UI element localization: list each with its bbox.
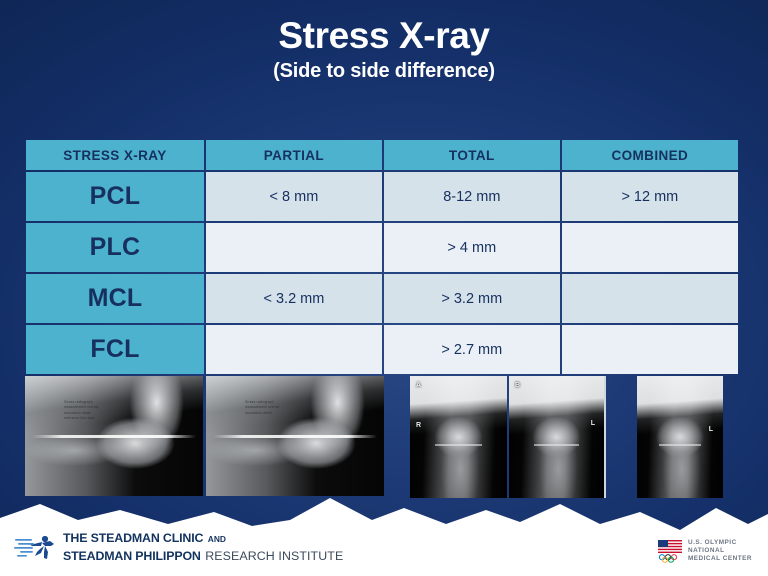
row-label-fcl: FCL (26, 325, 204, 374)
cell-mcl-partial: < 3.2 mm (206, 274, 382, 323)
table-header-row: STRESS X-RAY PARTIAL TOTAL COMBINED (26, 140, 738, 170)
table-row: PLC > 4 mm (26, 223, 738, 272)
row-label-plc: PLC (26, 223, 204, 272)
cell-plc-combined (562, 223, 738, 272)
cell-mcl-combined (562, 274, 738, 323)
row-label-pcl: PCL (26, 172, 204, 221)
table-row: PCL < 8 mm 8-12 mm > 12 mm (26, 172, 738, 221)
page-title: Stress X-ray (0, 16, 768, 55)
cell-plc-total: > 4 mm (384, 223, 560, 272)
column-header-total: TOTAL (384, 140, 560, 170)
clinic-name-line1: THE STEADMAN CLINIC (63, 531, 203, 545)
clinic-name-and: AND (208, 534, 226, 544)
xray-lateral-stress-right: Stress radiograph measurement overlay an… (206, 376, 384, 496)
clinic-name-line2: STEADMAN PHILIPPON (63, 549, 201, 563)
clinic-name-institute: RESEARCH INSTITUTE (205, 549, 343, 563)
cell-fcl-total: > 2.7 mm (384, 325, 560, 374)
knee-radiograph-ap (637, 376, 723, 498)
xray-corner-marker: A (416, 382, 421, 389)
xray-ap-stress-right-knee: A R (410, 376, 507, 498)
steadman-logo-text: THE STEADMAN CLINIC AND STEADMAN PHILIPP… (63, 529, 343, 565)
column-header-partial: PARTIAL (206, 140, 382, 170)
xray-side-marker-l: L (591, 420, 595, 427)
cell-pcl-total: 8-12 mm (384, 172, 560, 221)
stress-xray-table: STRESS X-RAY PARTIAL TOTAL COMBINED PCL … (24, 138, 740, 376)
usoc-logo-text: U.S. OLYMPIC NATIONAL MEDICAL CENTER (688, 539, 752, 563)
cell-pcl-partial: < 8 mm (206, 172, 382, 221)
table-row: MCL < 3.2 mm > 3.2 mm (26, 274, 738, 323)
cell-plc-partial (206, 223, 382, 272)
column-header-stress-xray: STRESS X-RAY (26, 140, 204, 170)
xray-ap-stress-single: L (637, 376, 723, 498)
olympic-rings-icon (658, 554, 682, 563)
runner-icon (14, 534, 58, 560)
slide: Stress X-ray (Side to side difference) S… (0, 0, 768, 576)
knee-radiograph-ap (509, 376, 604, 498)
xray-ap-stress-left-knee: B L (509, 376, 606, 498)
table-row: FCL > 2.7 mm (26, 325, 738, 374)
column-header-combined: COMBINED (562, 140, 738, 170)
usoc-line2: NATIONAL (688, 547, 752, 555)
usoc-marks (658, 540, 682, 563)
usoc-logo: U.S. OLYMPIC NATIONAL MEDICAL CENTER (658, 539, 752, 563)
cell-mcl-total: > 3.2 mm (384, 274, 560, 323)
title-block: Stress X-ray (Side to side difference) (0, 16, 768, 83)
cell-pcl-combined: > 12 mm (562, 172, 738, 221)
xray-lateral-stress-left: Stress radiograph measurement overlay an… (25, 376, 203, 496)
us-flag-icon (658, 540, 682, 553)
usoc-line3: MEDICAL CENTER (688, 555, 752, 563)
xray-corner-marker: B (515, 382, 520, 389)
xray-side-marker-r: R (416, 422, 421, 429)
cell-fcl-partial (206, 325, 382, 374)
row-label-mcl: MCL (26, 274, 204, 323)
stress-xray-table-wrapper: STRESS X-RAY PARTIAL TOTAL COMBINED PCL … (24, 138, 740, 376)
page-subtitle: (Side to side difference) (0, 60, 768, 83)
knee-radiograph-lateral (25, 376, 203, 496)
knee-radiograph-lateral (206, 376, 384, 496)
knee-radiograph-ap (410, 376, 507, 498)
xray-image-strip: Stress radiograph measurement overlay an… (0, 376, 768, 498)
usoc-line1: U.S. OLYMPIC (688, 539, 752, 547)
xray-side-marker-l: L (709, 426, 713, 433)
steadman-clinic-logo: THE STEADMAN CLINIC AND STEADMAN PHILIPP… (14, 529, 343, 565)
cell-fcl-combined (562, 325, 738, 374)
